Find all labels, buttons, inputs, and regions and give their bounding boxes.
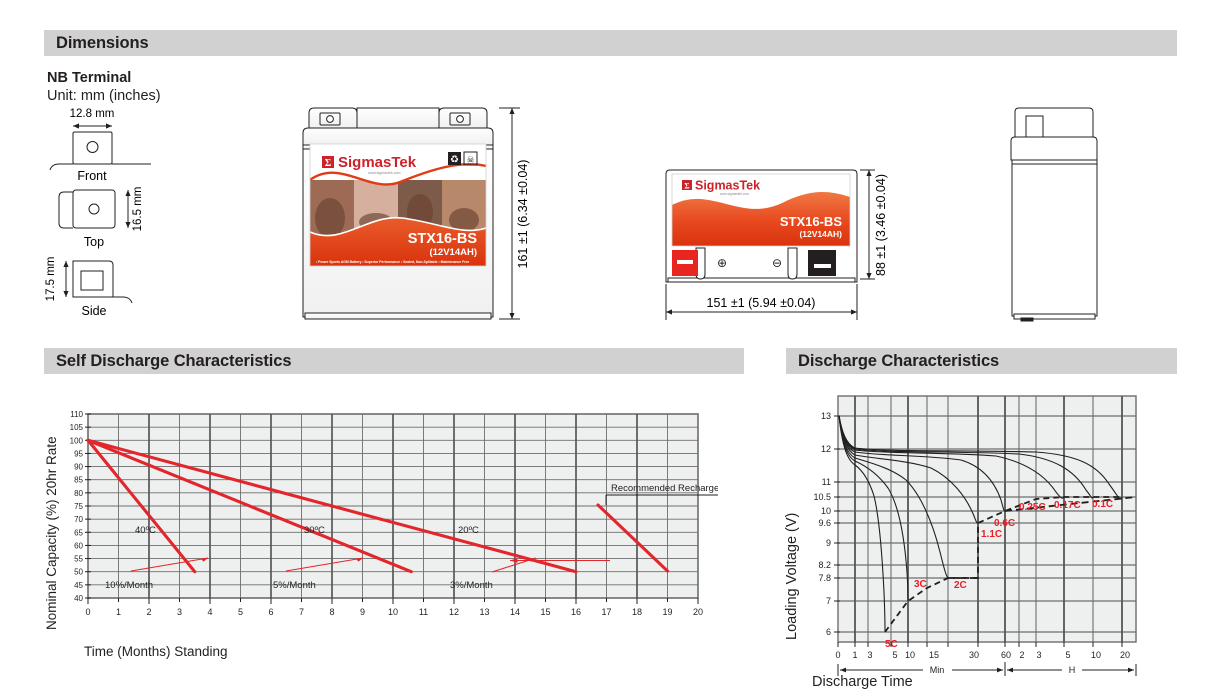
dc-ytick-9.0: 9 [826, 538, 831, 548]
dc-xtick-5h: 5 [1065, 650, 1070, 660]
dc-xtick-5: 5 [892, 650, 897, 660]
sd-xtick-9: 9 [360, 607, 365, 617]
sd-ytick-55: 55 [74, 555, 83, 564]
discharge-y-axis-title: Loading Voltage (V) [784, 500, 800, 640]
dc-xtick-3h: 3 [1036, 650, 1041, 660]
sd-xtick-6: 6 [268, 607, 273, 617]
section-title-self-discharge: Self Discharge Characteristics [56, 352, 291, 371]
dc-ytick-7.8: 7.8 [818, 573, 831, 583]
dc-ytick-9.6: 9.6 [818, 518, 831, 528]
sd-ytick-95: 95 [74, 449, 83, 458]
terminal-view-label-top: Top [84, 235, 104, 249]
sd-xtick-12: 12 [449, 607, 459, 617]
terminal-view-label-side: Side [81, 304, 106, 318]
sd-xtick-8: 8 [329, 607, 334, 617]
sd-xtick-11: 11 [419, 607, 428, 617]
dc-xtick-15: 15 [929, 650, 939, 660]
side-view-width-dimension: 151 ±1 (5.94 ±0.04) [707, 296, 816, 310]
dc-label-0.6c: 0.6C [994, 518, 1015, 529]
discharge-chart: 13 12 11 10.5 10 9.6 9 8.2 7.8 7 6 [806, 392, 1156, 677]
sd-xtick-5: 5 [238, 607, 243, 617]
dc-label-0.25c: 0.25C [1019, 502, 1046, 513]
sd-xtick-7: 7 [299, 607, 304, 617]
sd-xtick-20: 20 [693, 607, 703, 617]
sd-annotation-10pct: 10%/Month [105, 580, 153, 591]
negative-terminal-block [808, 250, 836, 276]
sd-xtick-17: 17 [601, 607, 611, 617]
section-title-discharge: Discharge Characteristics [798, 352, 999, 371]
dc-xtick-3: 3 [867, 650, 872, 660]
datasheet-page: Dimensions NB Terminal Unit: mm (inches)… [0, 0, 1221, 700]
sd-xtick-18: 18 [632, 607, 642, 617]
sd-annotation-5pct: 5%/Month [273, 580, 316, 591]
sd-xtick-16: 16 [571, 607, 581, 617]
terminal-view-label-front: Front [77, 169, 107, 183]
battery-front-view: Σ SigmasTek www.sigmastek.com ♻ ☠ STX16-… [296, 100, 536, 332]
sd-ytick-60: 60 [74, 541, 83, 550]
sd-ytick-75: 75 [74, 502, 83, 511]
terminal-views-diagram: 12.8 mm Front Top 16.5 mm [44, 106, 224, 331]
brand-name-2: SigmasTek [695, 179, 760, 193]
sd-annotation-recharge: Recommended Recharge Point [611, 483, 718, 494]
battery-side-view: Σ SigmasTek www.sigmastek.com STX16-BS (… [660, 160, 915, 335]
self-discharge-x-axis-title: Time (Months) Standing [84, 644, 228, 659]
dc-ytick-10.5: 10.5 [813, 492, 831, 502]
battery-model-2: STX16-BS [780, 214, 842, 229]
section-header-discharge: Discharge Characteristics [786, 348, 1177, 374]
dc-xtick-20h: 20 [1120, 650, 1130, 660]
sd-ytick-100: 100 [70, 436, 84, 445]
sd-xtick-3: 3 [177, 607, 182, 617]
side-view-height-dimension: 88 ±1 (3.46 ±0.04) [874, 174, 888, 276]
sd-ytick-65: 65 [74, 528, 83, 537]
self-discharge-y-axis-title: Nominal Capacity (%) 20hr Rate [44, 430, 59, 630]
dc-xtick-30: 30 [969, 650, 979, 660]
section-title-dimensions: Dimensions [56, 34, 149, 53]
battery-spec: (12V14AH) [429, 247, 477, 258]
sd-xtick-2: 2 [146, 607, 151, 617]
sd-xtick-13: 13 [479, 607, 489, 617]
dc-axis-unit-h: H [1069, 665, 1076, 675]
brand-mark-glyph-2: Σ [684, 182, 689, 191]
battery-profile-view [975, 100, 1115, 330]
sd-ytick-50: 50 [74, 568, 83, 577]
section-header-dimensions: Dimensions [44, 30, 1177, 56]
dc-ytick-13.0: 13 [821, 411, 831, 421]
sd-ytick-85: 85 [74, 476, 83, 485]
dc-xtick-0: 0 [835, 650, 840, 660]
brand-name: SigmasTek [338, 154, 417, 171]
dc-label-1.1c: 1.1C [981, 529, 1002, 540]
section-header-self-discharge: Self Discharge Characteristics [44, 348, 744, 374]
sd-ytick-45: 45 [74, 581, 83, 590]
terminal-type-title: NB Terminal [47, 70, 131, 86]
sd-ytick-105: 105 [70, 423, 84, 432]
brand-website-2: www.sigmastek.com [720, 192, 749, 196]
brand-mark-glyph: Σ [325, 158, 332, 169]
battery-tagline: • Power Sports AGM Battery • Superior Pe… [316, 260, 469, 264]
dc-label-0.17c: 0.17C [1054, 500, 1081, 511]
dc-xtick-60: 60 [1001, 650, 1011, 660]
sd-annotation-30c: 30ºC [304, 525, 325, 536]
sd-xtick-14: 14 [510, 607, 520, 617]
sd-ytick-110: 110 [70, 410, 83, 419]
dc-ytick-6.0: 6 [826, 627, 831, 637]
recycle-icon: ♻ [448, 152, 461, 166]
dc-ytick-7.0: 7 [826, 596, 831, 606]
sd-annotation-40c: 40ºC [135, 525, 156, 536]
dc-xtick-10: 10 [905, 650, 915, 660]
dc-label-3c: 3C [914, 579, 927, 590]
dc-xtick-1: 1 [852, 650, 857, 660]
svg-text:♻: ♻ [450, 155, 459, 166]
negative-polarity-icon: ⊖ [772, 256, 782, 270]
dc-label-2c: 2C [954, 580, 967, 591]
dc-ytick-10.0: 10 [821, 506, 831, 516]
sd-xtick-4: 4 [207, 607, 212, 617]
dc-ytick-11.0: 11 [822, 477, 831, 487]
positive-polarity-icon: ⊕ [717, 256, 727, 270]
sd-ytick-40: 40 [74, 594, 83, 603]
brand-website: www.sigmastek.com [368, 171, 401, 175]
svg-text:☠: ☠ [466, 156, 474, 166]
sd-xtick-15: 15 [540, 607, 550, 617]
front-width-dimension: 12.8 mm [70, 108, 115, 120]
side-height-dimension: 17.5 mm [45, 257, 57, 302]
sd-ytick-90: 90 [74, 463, 83, 472]
sd-xtick-0: 0 [85, 607, 90, 617]
sd-annotation-20c: 20ºC [458, 525, 479, 536]
sd-ytick-70: 70 [74, 515, 83, 524]
unit-note: Unit: mm (inches) [47, 88, 161, 104]
dc-axis-unit-min: Min [930, 665, 945, 675]
self-discharge-chart: 110 105 100 95 90 85 80 75 70 65 60 55 5… [58, 408, 718, 633]
battery-spec-2: (12V14AH) [799, 229, 842, 239]
dc-xtick-2h: 2 [1019, 650, 1024, 660]
sd-xtick-1: 1 [116, 607, 121, 617]
sd-xtick-19: 19 [662, 607, 672, 617]
dc-ytick-8.2: 8.2 [818, 560, 831, 570]
front-view-height-dimension: 161 ±1 (6.34 ±0.04) [516, 160, 530, 269]
sd-xtick-10: 10 [388, 607, 398, 617]
top-height-dimension: 16.5 mm [132, 187, 144, 232]
battery-model: STX16-BS [408, 231, 478, 247]
dc-xtick-10h: 10 [1091, 650, 1101, 660]
dc-ytick-12.0: 12 [821, 444, 831, 454]
dc-label-0.1c: 0.1C [1092, 499, 1113, 510]
sd-annotation-3pct: 3%/Month [450, 580, 493, 591]
sd-ytick-80: 80 [74, 489, 83, 498]
